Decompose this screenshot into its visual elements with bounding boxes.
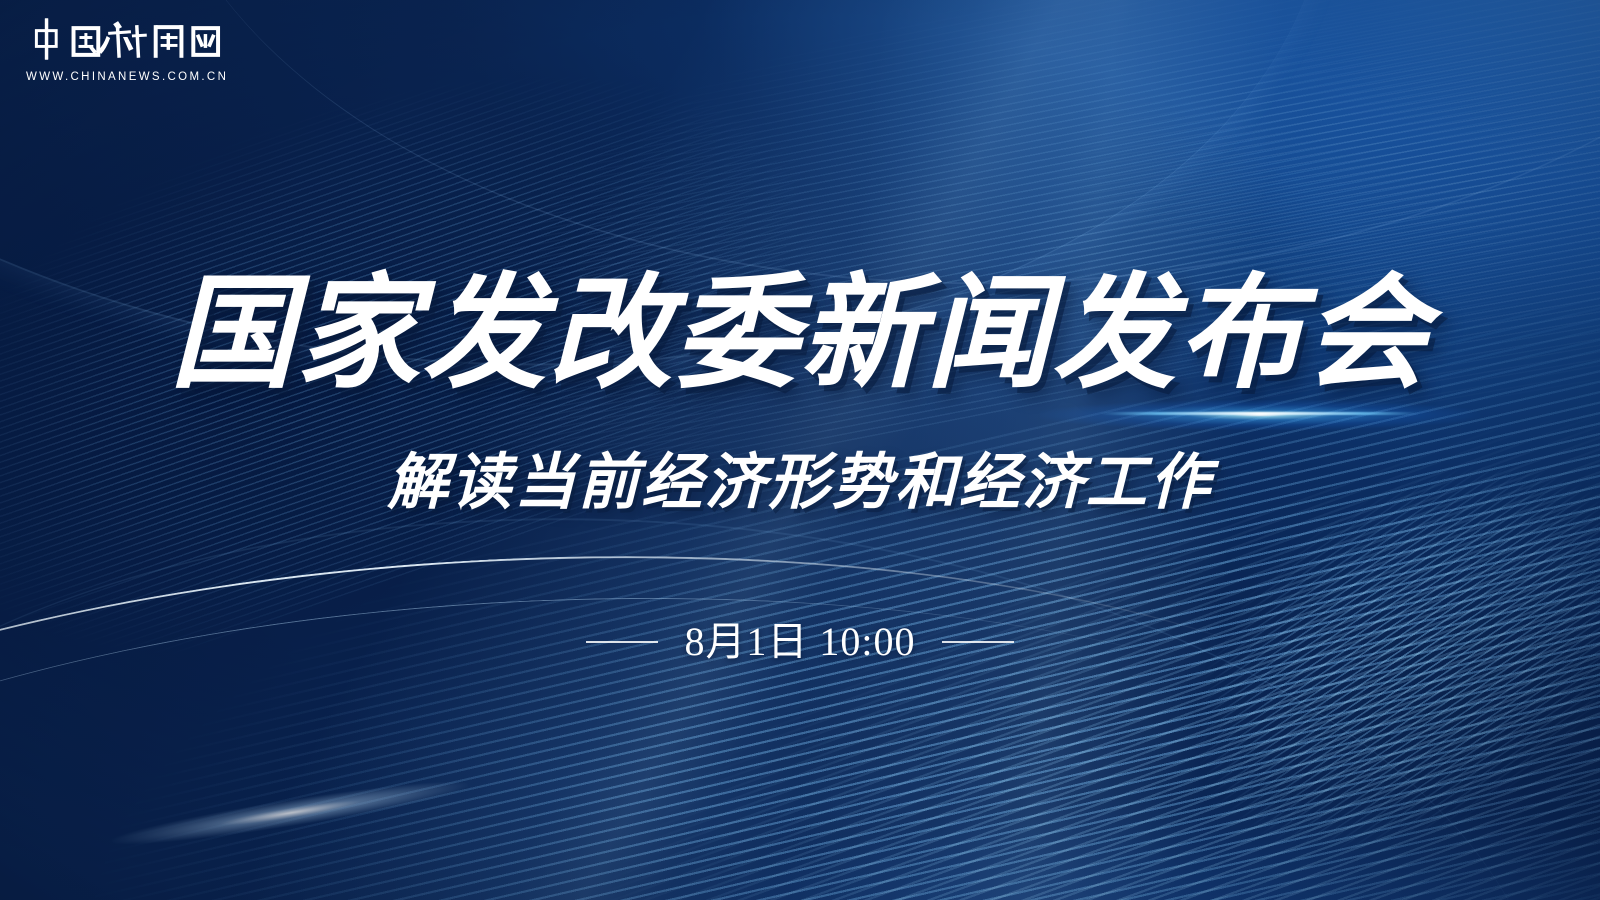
poster-canvas: WWW.CHINANEWS.COM.CN 国家发改委新闻发布会 解读当前经济形势… (0, 0, 1600, 900)
site-logo-url: WWW.CHINANEWS.COM.CN (26, 71, 256, 83)
poster-datetime: 8月1日 10:00 (684, 620, 915, 664)
site-logo[interactable]: WWW.CHINANEWS.COM.CN (26, 14, 256, 83)
poster-subheadline: 解读当前经济形势和经济工作 (0, 452, 1600, 513)
poster-headline: 国家发改委新闻发布会 (0, 272, 1600, 396)
rule-left (586, 641, 658, 643)
poster-datetime-row: 8月1日 10:00 (0, 620, 1600, 664)
rule-right (942, 641, 1014, 643)
chinanews-logo-icon (26, 14, 224, 64)
poster-content: 国家发改委新闻发布会 解读当前经济形势和经济工作 8月1日 10:00 (0, 0, 1600, 900)
